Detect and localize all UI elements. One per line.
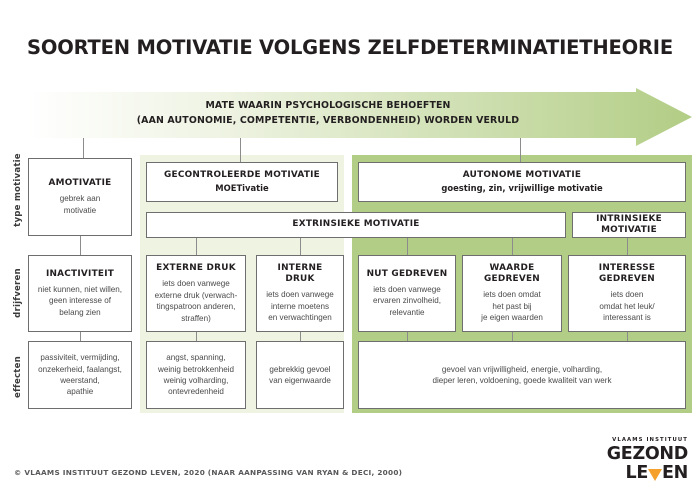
box-interesse-gedreven-body: iets doen omdat het leuk/ interessant is (599, 289, 654, 323)
box-effect-autonome[interactable]: gevoel van vrijwilligheid, energie, volh… (358, 341, 686, 409)
box-nut-gedreven-heading: NUT GEDREVEN (367, 269, 448, 280)
box-externe-druk-body: iets doen vanwege externe druk (verwach-… (155, 278, 238, 324)
box-amotivatie[interactable]: AMOTIVATIE gebrek aan motivatie (28, 158, 132, 236)
box-effect-amotivatie[interactable]: passiviteit, vermijding, onzekerheid, fa… (28, 341, 132, 409)
connector-inactiviteit (80, 236, 81, 256)
connector-interesse (627, 238, 628, 256)
banner-extrinsieke-label: EXTRINSIEKE MOTIVATIE (292, 219, 419, 230)
needs-gradient-arrow: MATE WAARIN PSYCHOLOGISCHE BEHOEFTEN (AA… (28, 88, 692, 146)
box-gecontroleerde-motivatie[interactable]: GECONTROLEERDE MOTIVATIE MOETivatie (146, 162, 338, 202)
box-effect-interne-druk[interactable]: gebrekkig gevoel van eigenwaarde (256, 341, 344, 409)
logo-line-leven: LE EN (607, 465, 688, 483)
box-nut-gedreven[interactable]: NUT GEDREVEN iets doen vanwege ervaren z… (358, 255, 456, 332)
box-autonome-heading: AUTONOME MOTIVATIE (463, 170, 581, 181)
connector-waarde (512, 238, 513, 256)
box-effect-autonome-body: gevoel van vrijwilligheid, energie, volh… (432, 364, 611, 387)
arrow-caption-line1: MATE WAARIN PSYCHOLOGISCHE BEHOEFTEN (28, 99, 628, 114)
copyright-text: © VLAAMS INSTITUUT GEZOND LEVEN, 2020 (N… (14, 468, 402, 477)
banner-intrinsieke-label: INTRINSIEKE MOTIVATIE (578, 214, 680, 236)
connector-amotivatie (83, 138, 84, 160)
box-autonome-sub: goesting, zin, vrijwillige motivatie (441, 183, 602, 194)
box-amotivatie-heading: AMOTIVATIE (49, 178, 112, 189)
box-effect-interne-druk-body: gebrekkig gevoel van eigenwaarde (269, 364, 331, 387)
box-effect-amotivatie-body: passiviteit, vermijding, onzekerheid, fa… (38, 352, 122, 398)
row-label-effecten: effecten (13, 332, 23, 422)
orange-triangle-icon (648, 469, 662, 481)
logo-tagline: VLAAMS INSTITUUT (607, 438, 688, 443)
box-effect-externe-druk[interactable]: angst, spanning, weinig betrokkenheid we… (146, 341, 246, 409)
box-gecontroleerde-heading: GECONTROLEERDE MOTIVATIE (164, 170, 320, 181)
logo-leven-prefix: LE (625, 465, 648, 483)
box-interne-druk-body: iets doen vanwege interne moetens en ver… (266, 289, 334, 323)
box-waarde-gedreven[interactable]: WAARDE GEDREVEN iets doen omdat het past… (462, 255, 562, 332)
arrow-caption-line2: (AAN AUTONOMIE, COMPETENTIE, VERBONDENHE… (28, 114, 628, 129)
box-nut-gedreven-body: iets doen vanwege ervaren zinvolheid, re… (373, 284, 441, 318)
box-waarde-gedreven-body: iets doen omdat het past bij je eigen wa… (481, 289, 543, 323)
box-interesse-gedreven[interactable]: INTERESSE GEDREVEN iets doen omdat het l… (568, 255, 686, 332)
box-amotivatie-body: gebrek aan motivatie (60, 193, 101, 216)
infographic-canvas: SOORTEN MOTIVATIE VOLGENS ZELFDETERMINAT… (0, 0, 700, 495)
box-gecontroleerde-sub: MOETivatie (215, 183, 268, 194)
box-waarde-gedreven-heading: WAARDE GEDREVEN (468, 263, 556, 285)
connector-interne-druk (300, 238, 301, 256)
page-title: SOORTEN MOTIVATIE VOLGENS ZELFDETERMINAT… (0, 36, 700, 59)
connector-externe-druk (196, 238, 197, 256)
row-label-drijfveren: drijfveren (13, 248, 23, 338)
logo-line-gezond: GEZOND (607, 446, 688, 464)
box-interne-druk[interactable]: INTERNE DRUK iets doen vanwege interne m… (256, 255, 344, 332)
arrow-caption: MATE WAARIN PSYCHOLOGISCHE BEHOEFTEN (AA… (28, 99, 628, 128)
box-inactiviteit-heading: INACTIVITEIT (46, 269, 114, 280)
connector-autonome (520, 138, 521, 162)
logo-leven-suffix: EN (662, 465, 688, 483)
gezond-leven-logo: VLAAMS INSTITUUT GEZOND LE EN (607, 438, 688, 482)
row-label-type-motivatie: type motivatie (13, 145, 23, 235)
connector-nut (407, 238, 408, 256)
box-externe-druk[interactable]: EXTERNE DRUK iets doen vanwege externe d… (146, 255, 246, 332)
connector-gecontroleerde (240, 138, 241, 162)
banner-extrinsieke-motivatie[interactable]: EXTRINSIEKE MOTIVATIE (146, 212, 566, 238)
box-inactiviteit[interactable]: INACTIVITEIT niet kunnen, niet willen, g… (28, 255, 132, 332)
box-interne-druk-heading: INTERNE DRUK (262, 263, 338, 285)
banner-intrinsieke-motivatie[interactable]: INTRINSIEKE MOTIVATIE (572, 212, 686, 238)
box-externe-druk-heading: EXTERNE DRUK (156, 263, 236, 274)
box-inactiviteit-body: niet kunnen, niet willen, geen interesse… (38, 284, 122, 318)
box-interesse-gedreven-heading: INTERESSE GEDREVEN (574, 263, 680, 285)
box-effect-externe-druk-body: angst, spanning, weinig betrokkenheid we… (158, 352, 234, 398)
box-autonome-motivatie[interactable]: AUTONOME MOTIVATIE goesting, zin, vrijwi… (358, 162, 686, 202)
